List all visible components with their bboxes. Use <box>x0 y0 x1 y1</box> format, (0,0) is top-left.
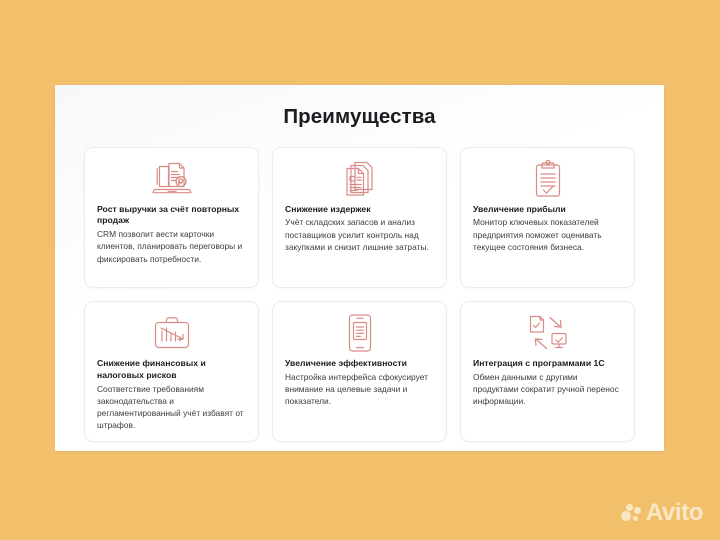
clipboard-check-icon <box>473 157 622 201</box>
avito-dots-icon <box>621 503 642 524</box>
advantage-title: Снижение издержек <box>285 204 434 216</box>
advantage-title: Увеличение прибыли <box>473 204 622 216</box>
advantage-card[interactable]: Увеличение эффективности Настройка интер… <box>272 301 447 442</box>
advantages-card-grid: Рост выручки за счёт повторных продаж CR… <box>84 147 635 443</box>
advantage-card[interactable]: Снижение издержек Учёт складских запасов… <box>272 147 447 288</box>
advantage-body: Обмен данными с другими продуктами сокра… <box>473 371 622 408</box>
panel-inner: Преимущества <box>55 85 664 451</box>
content-panel: Преимущества <box>55 85 664 451</box>
laptop-document-ruble-icon <box>97 157 246 201</box>
advantage-card[interactable]: Интеграция с программами 1С Обмен данным… <box>460 301 635 442</box>
advantage-card[interactable]: Увеличение прибыли Монитор ключевых пока… <box>460 147 635 288</box>
advantage-body: Соответствие требованиям законодательств… <box>97 383 246 432</box>
advantage-body: CRM позволит вести карточки клиентов, пл… <box>97 228 246 265</box>
document-monitor-sync-icon <box>473 311 622 355</box>
briefcase-declining-chart-icon <box>97 311 246 355</box>
avito-wordmark: Avito <box>646 501 703 525</box>
advantage-title: Интеграция с программами 1С <box>473 358 622 370</box>
stacked-documents-icon <box>285 157 434 201</box>
advantage-title: Увеличение эффективности <box>285 358 434 370</box>
advantage-body: Учёт складских запасов и анализ поставщи… <box>285 216 434 253</box>
advantage-body: Настройка интерфейса сфокусирует внимани… <box>285 371 434 408</box>
page-title: Преимущества <box>84 106 635 129</box>
advantage-body: Монитор ключевых показателей предприятия… <box>473 216 622 253</box>
advantage-card[interactable]: Рост выручки за счёт повторных продаж CR… <box>84 147 259 288</box>
advantage-title: Рост выручки за счёт повторных продаж <box>97 204 246 228</box>
advantage-title: Снижение финансовых и налоговых рисков <box>97 358 246 382</box>
advantage-card[interactable]: Снижение финансовых и налоговых рисков С… <box>84 301 259 442</box>
avito-watermark: Avito <box>621 501 703 525</box>
smartphone-document-icon <box>285 311 434 355</box>
